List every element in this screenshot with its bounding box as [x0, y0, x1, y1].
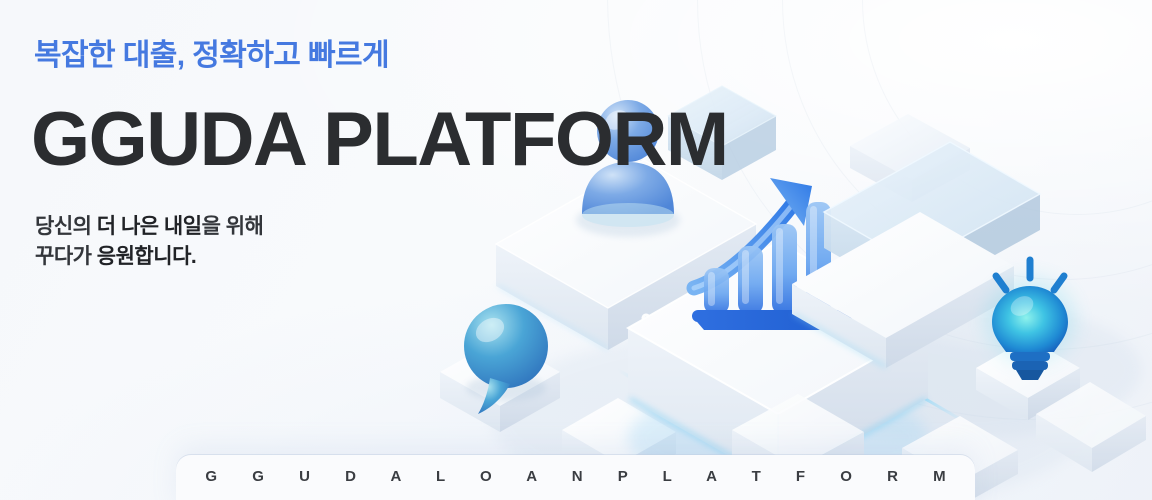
subtitle-line-2: 꾸다가 응원합니다.: [35, 242, 263, 272]
footer-wordmark-bar: G G U D A L O A N P L A T F O R M: [176, 455, 975, 500]
decorative-arc: [862, 0, 1152, 215]
decorative-arc: [697, 0, 1152, 350]
hero-subtitle: 당신의 더 나은 내일을 위해 꾸다가 응원합니다.: [35, 212, 263, 273]
page-title: GGUDA PLATFORM: [31, 102, 728, 178]
subtitle-line-1-tail: 을 위해: [202, 215, 264, 238]
subtitle-line-1-emphasis: 더 나은 내일: [97, 215, 202, 238]
subtitle-line-1-plain: 당신의: [35, 215, 97, 238]
footer-wordmark-text: G G U D A L O A N P L A T F O R M: [190, 468, 961, 485]
hero-banner: 복잡한 대출, 정확하고 빠르게 GGUDA PLATFORM 당신의 더 나은…: [0, 0, 1152, 500]
decorative-arc: [782, 0, 1152, 280]
lightbulb-icon: [984, 260, 1076, 380]
subtitle-line-2-plain: 꾸다가: [35, 245, 97, 268]
decorative-arc: [607, 0, 1152, 420]
subtitle-line-2-emphasis: 응원합니다.: [97, 245, 196, 268]
subtitle-line-1: 당신의 더 나은 내일을 위해: [35, 212, 263, 242]
hero-tagline: 복잡한 대출, 정확하고 빠르게: [34, 38, 389, 74]
